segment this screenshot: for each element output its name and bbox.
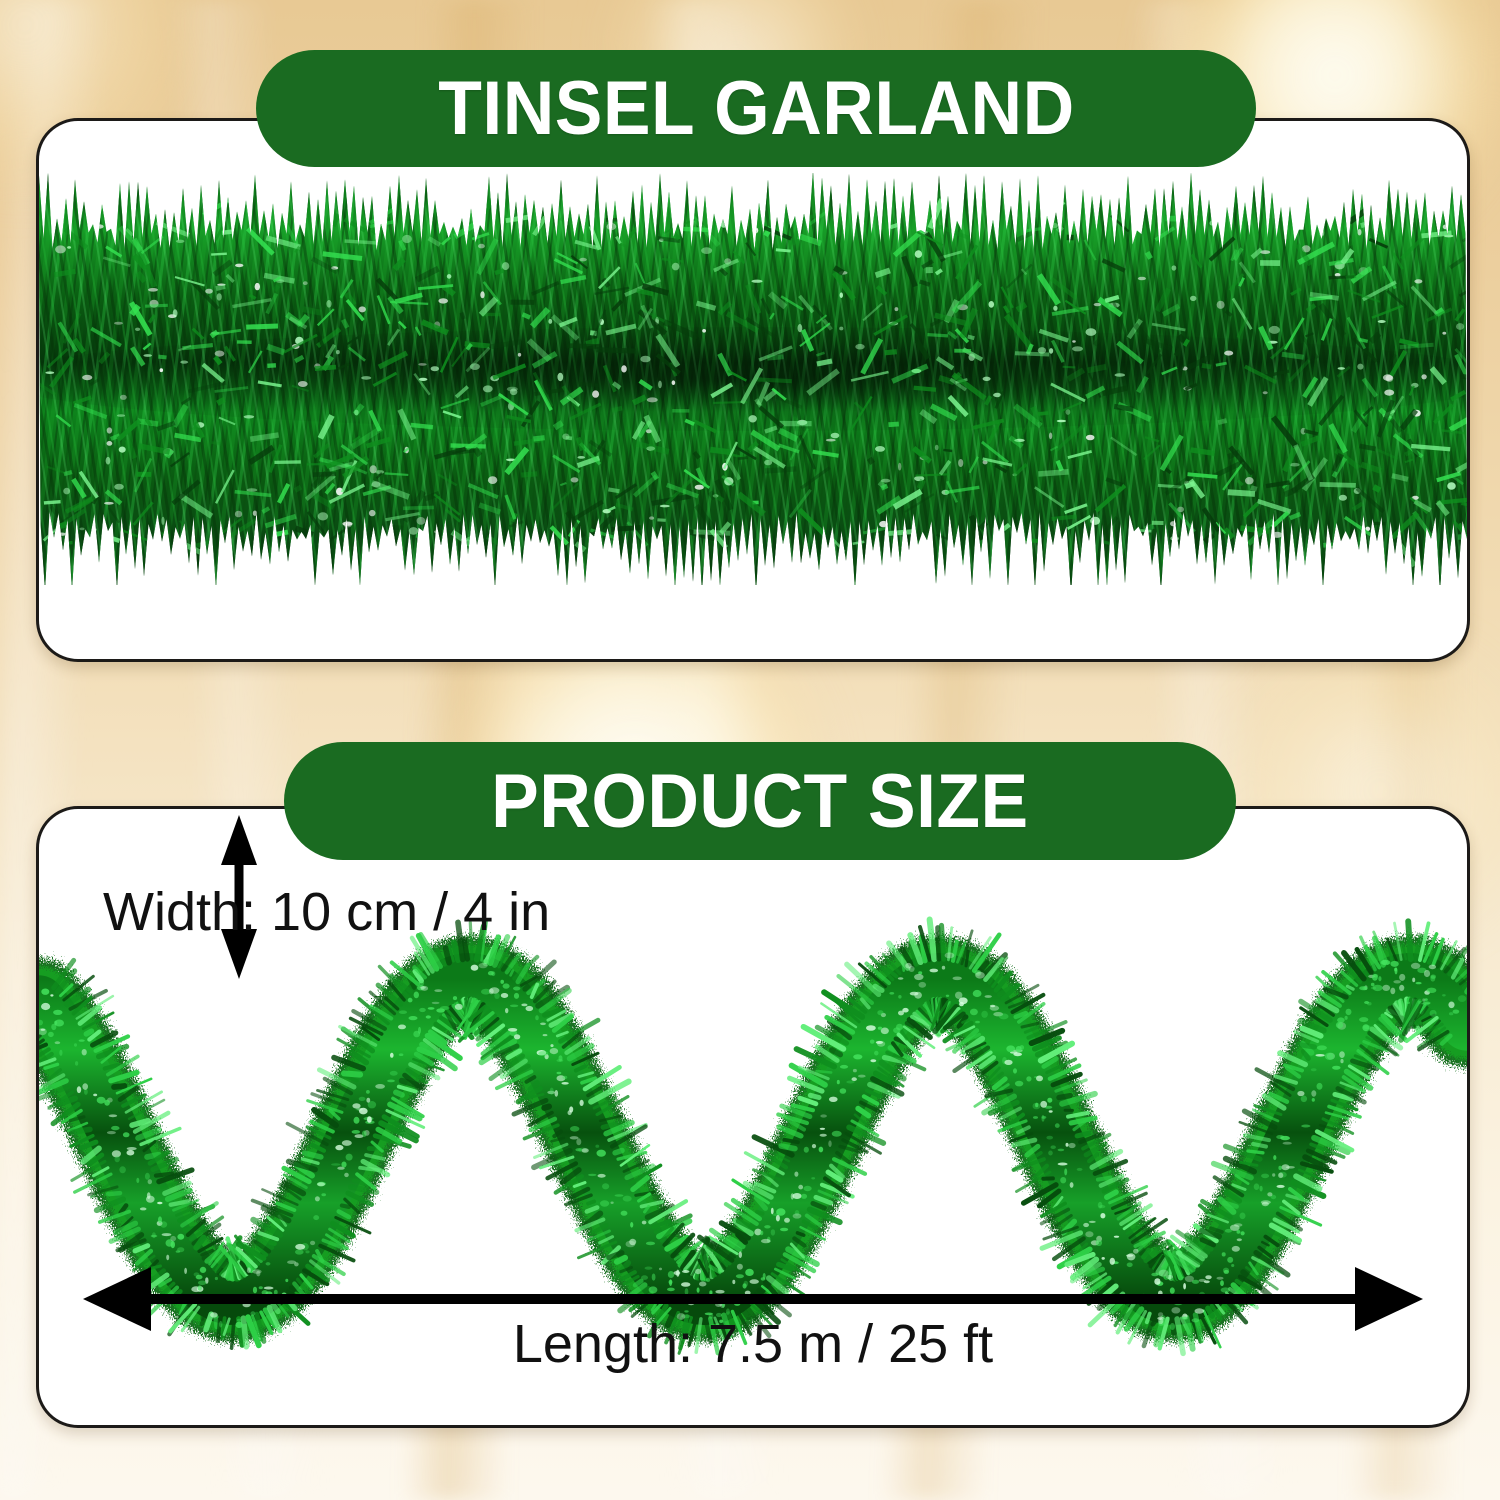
garland-wave-illustration [39,920,1467,1354]
tinsel-garland-photo [39,173,1467,585]
product-title-text: TINSEL GARLAND [438,65,1074,152]
length-label: Length: 7.5 m / 25 ft [39,1313,1467,1375]
size-title-text: PRODUCT SIZE [491,758,1029,845]
product-photo-card [36,118,1470,662]
product-size-card: Width: 10 cm / 4 in Length: 7.5 m / 25 f… [36,806,1470,1428]
size-title-badge: PRODUCT SIZE [284,742,1236,860]
product-title-badge: TINSEL GARLAND [256,50,1256,167]
width-label: Width: 10 cm / 4 in [103,881,550,943]
